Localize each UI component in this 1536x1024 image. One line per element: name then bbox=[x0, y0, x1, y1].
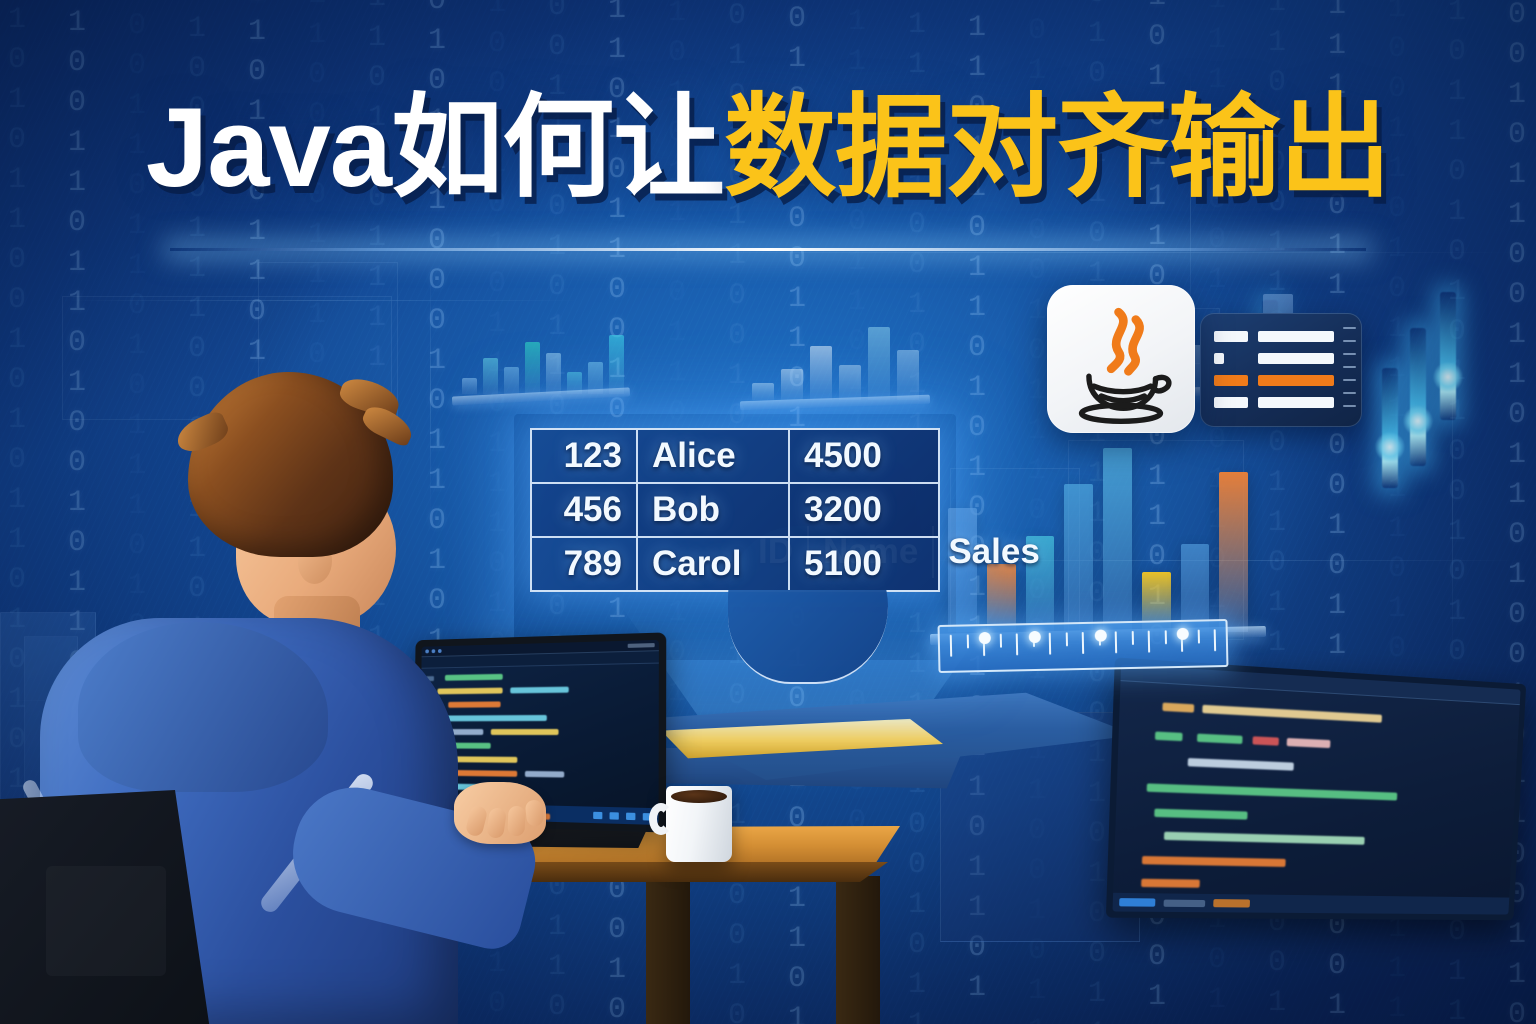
panel-label-bar bbox=[1214, 331, 1248, 342]
chart-bar bbox=[868, 327, 890, 400]
chart-bar bbox=[609, 335, 624, 394]
terminal-line bbox=[1162, 703, 1194, 713]
light-streak bbox=[1440, 292, 1456, 420]
title-white-part: Java如何让 bbox=[146, 85, 724, 210]
code-line bbox=[491, 729, 559, 735]
alignment-ruler bbox=[938, 619, 1229, 673]
holographic-data-table: ID Name Sales 123 Alice 4500 456 Bob 320… bbox=[530, 428, 940, 592]
panel-label-bar bbox=[1214, 375, 1248, 386]
code-line bbox=[525, 771, 564, 778]
ruler-tick bbox=[1197, 630, 1199, 644]
ruler-tick bbox=[1016, 633, 1018, 655]
table-row: 456 Bob 3200 bbox=[532, 484, 938, 538]
panel-tick bbox=[1343, 392, 1356, 394]
chart-bar bbox=[1064, 484, 1093, 632]
secondary-monitor-terminal bbox=[1106, 657, 1526, 920]
cell-sales: 5100 bbox=[790, 538, 938, 590]
panel-row-bar bbox=[1258, 331, 1334, 342]
coffee-mug bbox=[666, 786, 732, 862]
ruler-tick bbox=[1049, 633, 1051, 655]
panel-tick bbox=[1343, 327, 1356, 329]
ruler-marker bbox=[979, 632, 991, 644]
ruler-tick bbox=[999, 634, 1001, 648]
terminal-line bbox=[1202, 705, 1382, 723]
light-streak bbox=[1410, 328, 1426, 466]
chart-bar bbox=[781, 369, 803, 400]
chair-panel bbox=[46, 866, 166, 976]
ruler-tick bbox=[1131, 631, 1133, 645]
light-streak bbox=[1382, 368, 1398, 488]
java-coffee-cup-icon bbox=[1047, 285, 1195, 433]
chart-bar bbox=[504, 367, 519, 394]
panel-tick bbox=[1343, 366, 1356, 368]
terminal-line bbox=[1188, 758, 1294, 771]
title-gold-part: 数据对齐输出 bbox=[724, 85, 1390, 210]
chart-left-small bbox=[462, 308, 624, 394]
page-title: Java如何让数据对齐输出 bbox=[0, 88, 1536, 209]
panel-label-bar bbox=[1214, 397, 1248, 408]
code-line bbox=[510, 687, 569, 694]
chart-bar bbox=[1219, 472, 1248, 632]
ruler-tick bbox=[1214, 629, 1216, 651]
column-header-sales: Sales bbox=[934, 526, 1053, 578]
ruler-tick bbox=[950, 635, 952, 657]
chart-bar bbox=[546, 353, 561, 394]
chart-bar bbox=[839, 365, 861, 400]
title-underline-glow bbox=[170, 248, 1366, 251]
chart-bar bbox=[525, 342, 540, 394]
java-logo-badge bbox=[1047, 285, 1195, 433]
panel-tick bbox=[1343, 379, 1356, 381]
cell-sales: 4500 bbox=[790, 430, 938, 482]
terminal-line bbox=[1197, 734, 1243, 744]
panel-tick bbox=[1343, 340, 1356, 342]
alignment-preview-panel bbox=[1200, 313, 1362, 427]
terminal-line bbox=[1141, 879, 1200, 888]
panel-row-bar bbox=[1258, 375, 1334, 386]
terminal-line bbox=[1287, 738, 1331, 748]
ruler-marker bbox=[1094, 630, 1106, 642]
ruler-tick bbox=[1115, 631, 1117, 653]
chart-center bbox=[752, 300, 919, 400]
cell-name: Carol bbox=[638, 538, 790, 590]
panel-tick bbox=[1343, 353, 1356, 355]
cell-name: Bob bbox=[638, 484, 790, 536]
chart-bar bbox=[810, 346, 832, 400]
terminal-line bbox=[1252, 736, 1279, 745]
chart-bar bbox=[897, 350, 919, 400]
terminal-line bbox=[1164, 832, 1365, 845]
chart-bar bbox=[483, 358, 498, 394]
hand bbox=[454, 782, 546, 844]
ruler-tick bbox=[1065, 632, 1067, 646]
chart-bar bbox=[462, 378, 477, 394]
cell-id: 123 bbox=[532, 430, 638, 482]
coffee-surface bbox=[671, 790, 727, 803]
ruler-marker bbox=[1177, 628, 1189, 640]
terminal-line bbox=[1147, 783, 1398, 800]
desk-leg bbox=[646, 880, 690, 1024]
panel-tick bbox=[1343, 405, 1356, 407]
terminal-line bbox=[1142, 856, 1286, 867]
chart-bar bbox=[1103, 448, 1132, 632]
ruler-tick bbox=[1164, 630, 1166, 644]
panel-row-bar bbox=[1258, 397, 1334, 408]
panel-label-bar bbox=[1214, 353, 1224, 364]
cell-name: Alice bbox=[638, 430, 790, 482]
cover-image-stage: 1 0 1 0 1 1 0 0 1 0 1 0 1 1 0 1 0 1 0 1 … bbox=[0, 0, 1536, 1024]
mug-handle bbox=[649, 803, 673, 835]
terminal-line bbox=[1154, 809, 1247, 820]
table-row: 123 Alice 4500 bbox=[532, 430, 938, 484]
ruler-tick bbox=[1148, 631, 1150, 653]
chart-bar bbox=[752, 383, 774, 400]
terminal-line bbox=[1155, 732, 1183, 742]
monitor-statusbar bbox=[1113, 893, 1510, 915]
ruler-marker bbox=[1028, 631, 1040, 643]
cell-sales: 3200 bbox=[790, 484, 938, 536]
desk-leg bbox=[836, 876, 880, 1024]
ruler-tick bbox=[966, 634, 968, 648]
cell-id: 456 bbox=[532, 484, 638, 536]
cell-id: 789 bbox=[532, 538, 638, 590]
table-row: 789 Carol 5100 bbox=[532, 538, 938, 590]
panel-row-bar bbox=[1258, 353, 1334, 364]
ruler-tick bbox=[1082, 632, 1084, 654]
